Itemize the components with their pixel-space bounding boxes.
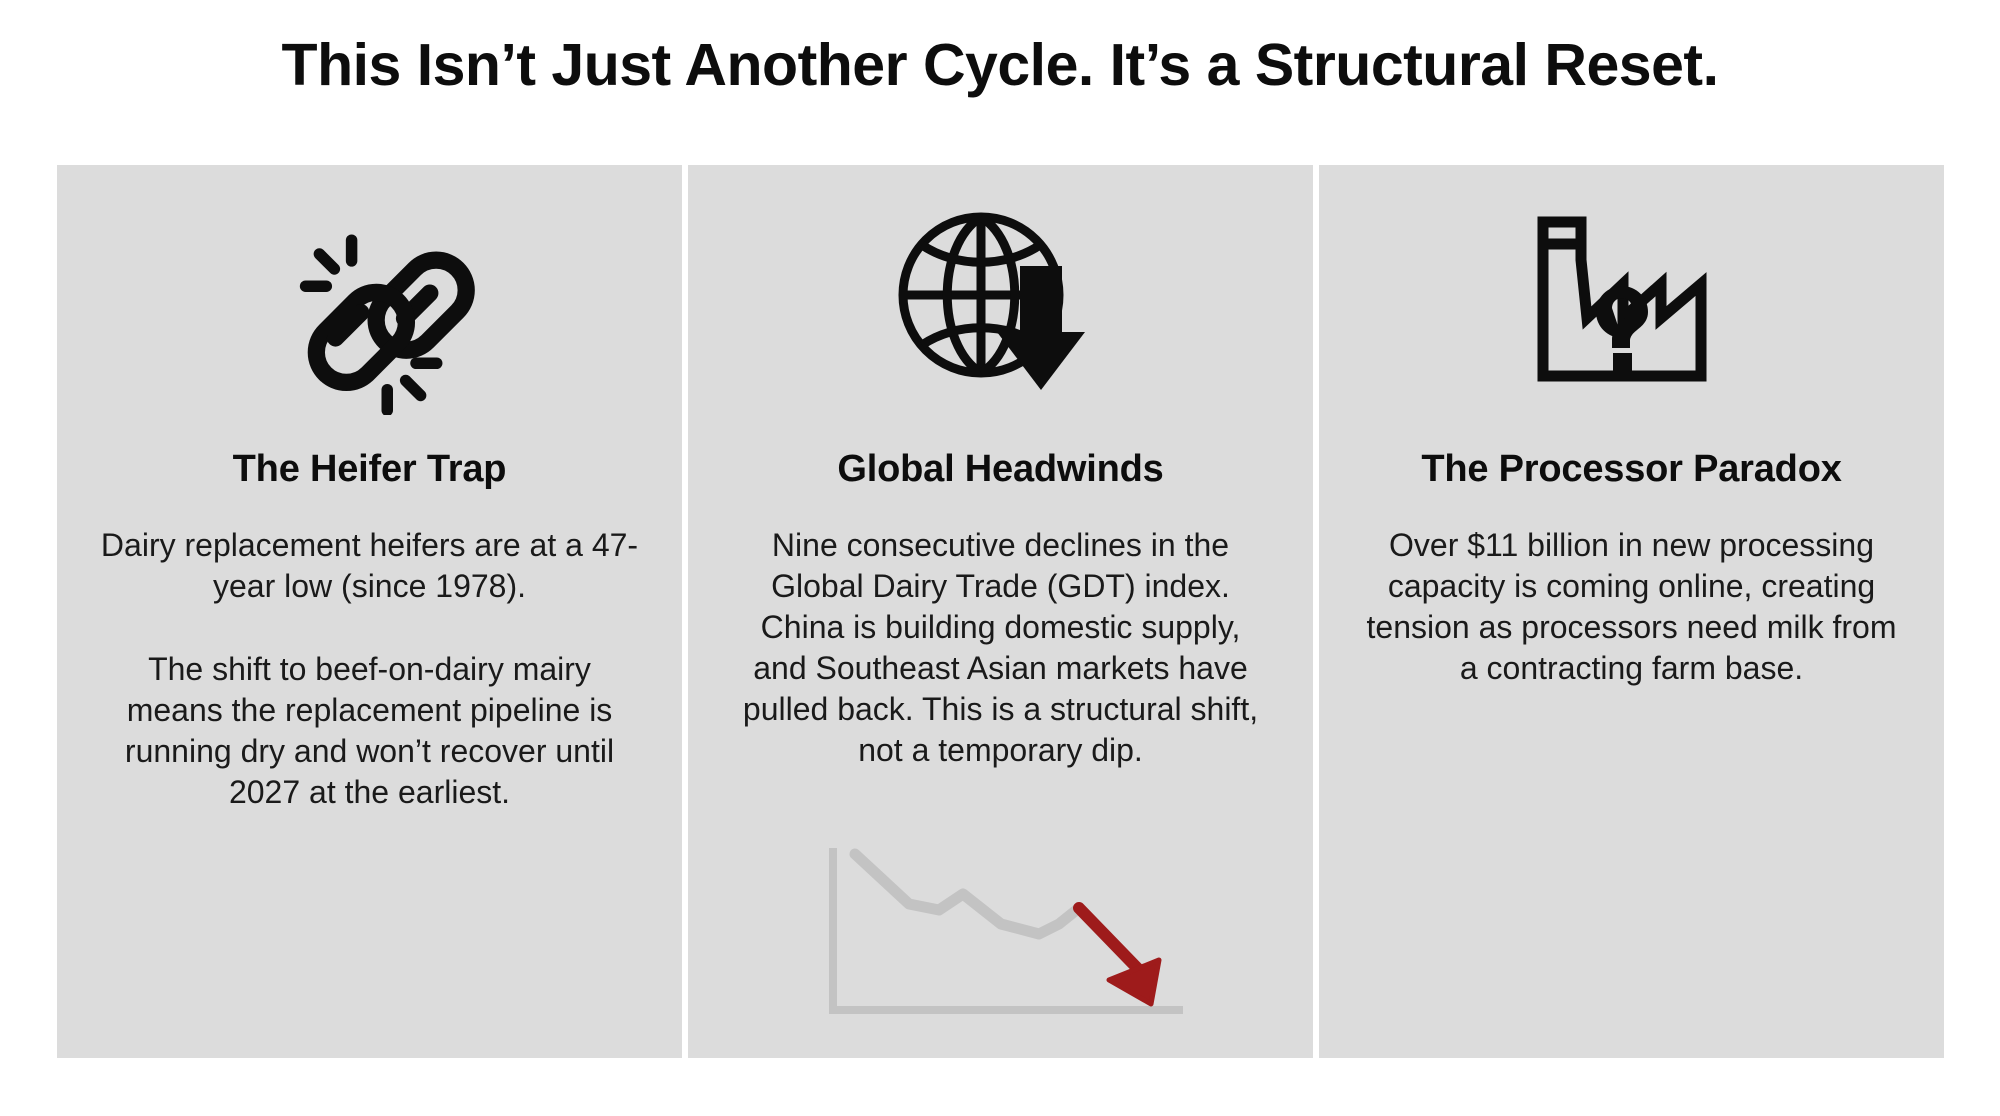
card-row: The Heifer Trap Dairy replacement heifer… [57, 165, 1944, 1058]
card-paragraph: Nine consecutive declines in the Global … [730, 525, 1271, 771]
card-global-headwinds: Global Headwinds Nine consecutive declin… [688, 165, 1313, 1058]
card-paragraph: The shift to beef-on-dairy mairy means t… [99, 649, 640, 813]
card-heifer-trap: The Heifer Trap Dairy replacement heifer… [57, 165, 682, 1058]
broken-chain-link-icon [57, 165, 682, 435]
declining-trend-chart [811, 842, 1191, 1032]
card-processor-paradox: The Processor Paradox Over $11 billion i… [1319, 165, 1944, 1058]
card-paragraph: Over $11 billion in new processing capac… [1361, 525, 1902, 689]
infographic-slide: This Isn’t Just Another Cycle. It’s a St… [0, 0, 2000, 1116]
card-heading: Global Headwinds [688, 447, 1313, 493]
factory-question-mark-icon [1319, 165, 1944, 435]
card-body: Nine consecutive declines in the Global … [688, 525, 1313, 771]
card-heading: The Heifer Trap [57, 447, 682, 493]
card-heading: The Processor Paradox [1319, 447, 1944, 493]
card-body: Over $11 billion in new processing capac… [1319, 525, 1944, 689]
card-paragraph: Dairy replacement heifers are at a 47-ye… [99, 525, 640, 607]
page-title: This Isn’t Just Another Cycle. It’s a St… [0, 32, 2000, 100]
globe-down-arrow-icon [688, 165, 1313, 435]
card-body: Dairy replacement heifers are at a 47-ye… [57, 525, 682, 813]
